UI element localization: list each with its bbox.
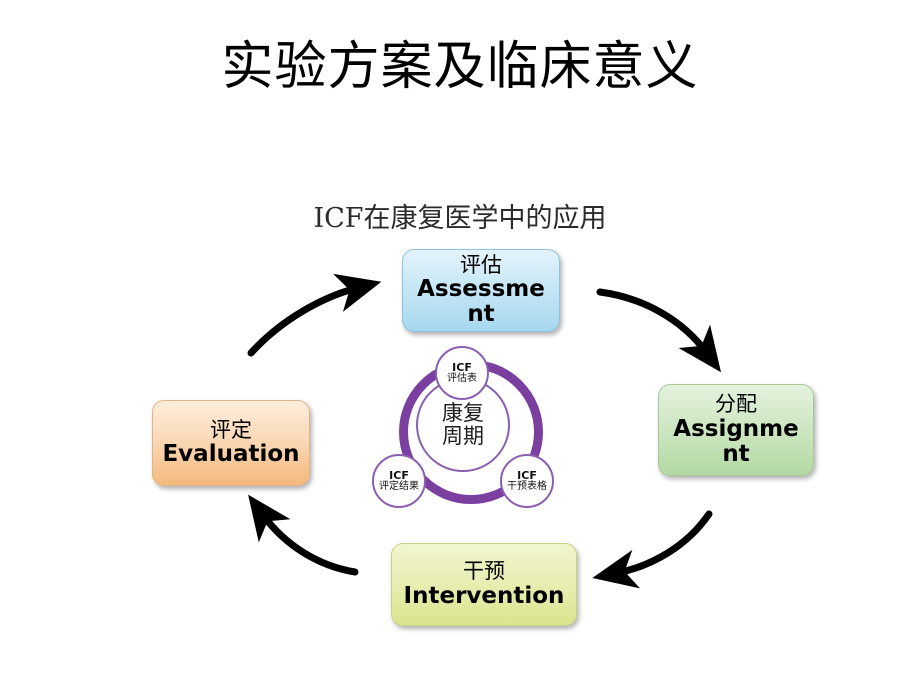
stage-label-en-assignment: Assignment — [667, 417, 805, 467]
cycle-diagram: ICF在康复医学中的应用 评估 Assessment 分配 Assig — [0, 0, 920, 690]
wheel-bubble-icf-evaluation-result[interactable]: ICF 评定结果 — [372, 454, 426, 508]
rehabilitation-cycle-wheel: 康复周期 ICF 评估表 ICF 干预表格 ICF 评定结果 — [370, 338, 558, 526]
stage-box-evaluation[interactable]: 评定 Evaluation — [152, 400, 310, 486]
stage-label-en-intervention: Intervention — [404, 584, 565, 609]
bubble-title-right: ICF — [517, 470, 537, 482]
stage-label-en-assessment: Assessment — [411, 277, 551, 327]
wheel-center-label: 康复周期 — [439, 402, 487, 448]
stage-label-cn-assignment: 分配 — [715, 393, 757, 417]
wheel-bubble-icf-assessment-form[interactable]: ICF 评估表 — [435, 346, 489, 400]
stage-label-cn-intervention: 干预 — [463, 560, 505, 584]
bubble-text-left: 评定结果 — [379, 482, 419, 493]
diagram-caption: ICF在康复医学中的应用 — [0, 196, 920, 235]
wheel-bubble-icf-intervention-form[interactable]: ICF 干预表格 — [500, 454, 554, 508]
arrow-assessment-to-assignment — [600, 292, 706, 352]
bubble-title-top: ICF — [452, 362, 472, 374]
arrow-evaluation-to-assessment — [251, 288, 357, 353]
stage-label-en-evaluation: Evaluation — [162, 442, 299, 467]
stage-label-cn-assessment: 评估 — [460, 254, 502, 278]
arrow-intervention-to-evaluation — [263, 515, 355, 572]
stage-label-cn-evaluation: 评定 — [210, 419, 252, 443]
stage-box-assignment[interactable]: 分配 Assignment — [658, 384, 814, 476]
arrow-assignment-to-intervention — [617, 514, 709, 573]
bubble-title-left: ICF — [389, 470, 409, 482]
stage-box-assessment[interactable]: 评估 Assessment — [402, 249, 560, 332]
stage-box-intervention[interactable]: 干预 Intervention — [391, 543, 577, 626]
bubble-text-top: 评估表 — [442, 374, 482, 385]
bubble-text-right: 干预表格 — [507, 482, 547, 493]
